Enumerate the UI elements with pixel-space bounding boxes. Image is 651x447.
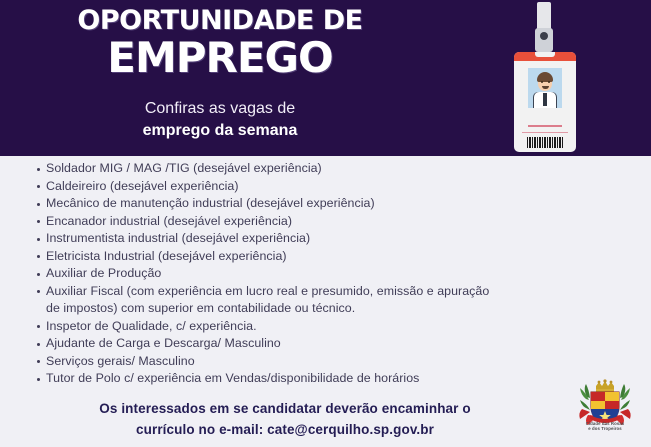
list-item: Instrumentista industrial (desejável exp…: [0, 230, 651, 248]
photo-eye-left: [541, 81, 543, 83]
list-item: Caldeireiro (desejável experiência): [0, 178, 651, 196]
crest-motto-line-2: e dos Tropeiros: [574, 426, 636, 431]
banner-copy: OPORTUNIDADE DE EMPREGO Confiras as vaga…: [0, 0, 470, 156]
list-item: Serviços gerais/ Masculino: [0, 353, 651, 371]
crest-motto: Cidade das Rosas e dos Tropeiros: [574, 421, 636, 432]
subtitle-line-2: emprego da semana: [0, 119, 440, 142]
list-item: Inspetor de Qualidade, c/ experiência.: [0, 318, 651, 336]
badge-slot: [535, 52, 555, 57]
badge-name-line: [528, 125, 562, 127]
lanyard-hole: [540, 32, 548, 40]
badge-card: [514, 52, 576, 152]
footer-line-2: currículo no e-mail: cate@cerquilho.sp.g…: [0, 419, 570, 440]
list-item: Encanador industrial (desejável experiên…: [0, 213, 651, 231]
page-subtitle: Confiras as vagas de emprego da semana: [0, 98, 440, 142]
photo-tie: [543, 93, 547, 106]
header-banner: OPORTUNIDADE DE EMPREGO Confiras as vaga…: [0, 0, 651, 156]
list-item: Soldador MIG / MAG /TIG (desejável exper…: [0, 160, 651, 178]
photo-hair: [537, 72, 553, 82]
list-item: Auxiliar Fiscal (com experiência em lucr…: [0, 283, 651, 318]
badge-photo-icon: [528, 68, 562, 108]
footer-line-1: Os interessados em se candidatar deverão…: [0, 398, 570, 419]
list-item: Tutor de Polo c/ experiência em Vendas/d…: [0, 370, 651, 388]
list-item: Ajudante de Carga e Descarga/ Masculino: [0, 335, 651, 353]
list-item: Mecânico de manutenção industrial (desej…: [0, 195, 651, 213]
job-openings-list: Soldador MIG / MAG /TIG (desejável exper…: [0, 160, 651, 388]
badge-divider: [522, 132, 568, 133]
photo-eye-right: [548, 81, 550, 83]
subtitle-line-1: Confiras as vagas de: [0, 98, 440, 119]
municipal-crest-icon: Cidade das Rosas e dos Tropeiros: [574, 379, 636, 441]
id-badge-icon: [507, 2, 587, 154]
list-item: Eletricista Industrial (desejável experi…: [0, 248, 651, 266]
barcode-icon: [527, 137, 563, 148]
page-title: OPORTUNIDADE DE EMPREGO: [0, 6, 440, 80]
footer-contact: Os interessados em se candidatar deverão…: [0, 398, 570, 440]
list-item: Auxiliar de Produção: [0, 265, 651, 283]
job-opportunities-poster: OPORTUNIDADE DE EMPREGO Confiras as vaga…: [0, 0, 651, 447]
title-line-1: OPORTUNIDADE DE: [0, 6, 440, 36]
title-line-2: EMPREGO: [0, 36, 440, 80]
